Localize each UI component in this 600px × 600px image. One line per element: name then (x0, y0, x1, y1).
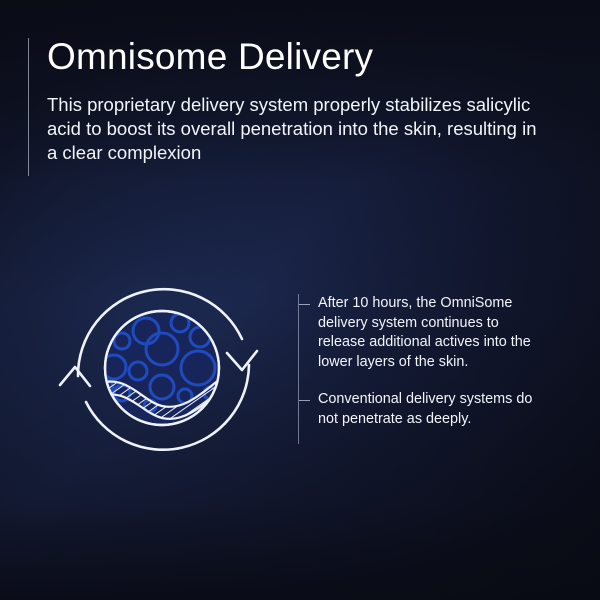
callout-tick-icon (299, 400, 310, 401)
page-subtitle: This proprietary delivery system properl… (47, 93, 547, 165)
cycle-arrowhead-up-icon (60, 367, 90, 386)
header-content: Omnisome Delivery This proprietary deliv… (28, 38, 548, 165)
callout-tick-icon (299, 304, 310, 305)
delivery-cycle-diagram (50, 275, 280, 465)
header-block: Omnisome Delivery This proprietary deliv… (28, 38, 548, 165)
cycle-diagram-svg (50, 275, 280, 465)
page-title: Omnisome Delivery (47, 38, 548, 77)
cycle-arrowhead-down-icon (227, 351, 257, 370)
callout-list: After 10 hours, the OmniSome delivery sy… (298, 294, 548, 447)
callout-text-2: Conventional delivery systems do not pen… (318, 390, 548, 429)
callout-item-1: After 10 hours, the OmniSome delivery sy… (298, 294, 548, 372)
callout-text-1: After 10 hours, the OmniSome delivery sy… (318, 294, 548, 372)
callout-item-2: Conventional delivery systems do not pen… (298, 390, 548, 429)
header-accent-rule (28, 38, 29, 176)
sphere-group (100, 311, 225, 425)
omnisome-delivery-infographic: Omnisome Delivery This proprietary deliv… (0, 0, 600, 600)
